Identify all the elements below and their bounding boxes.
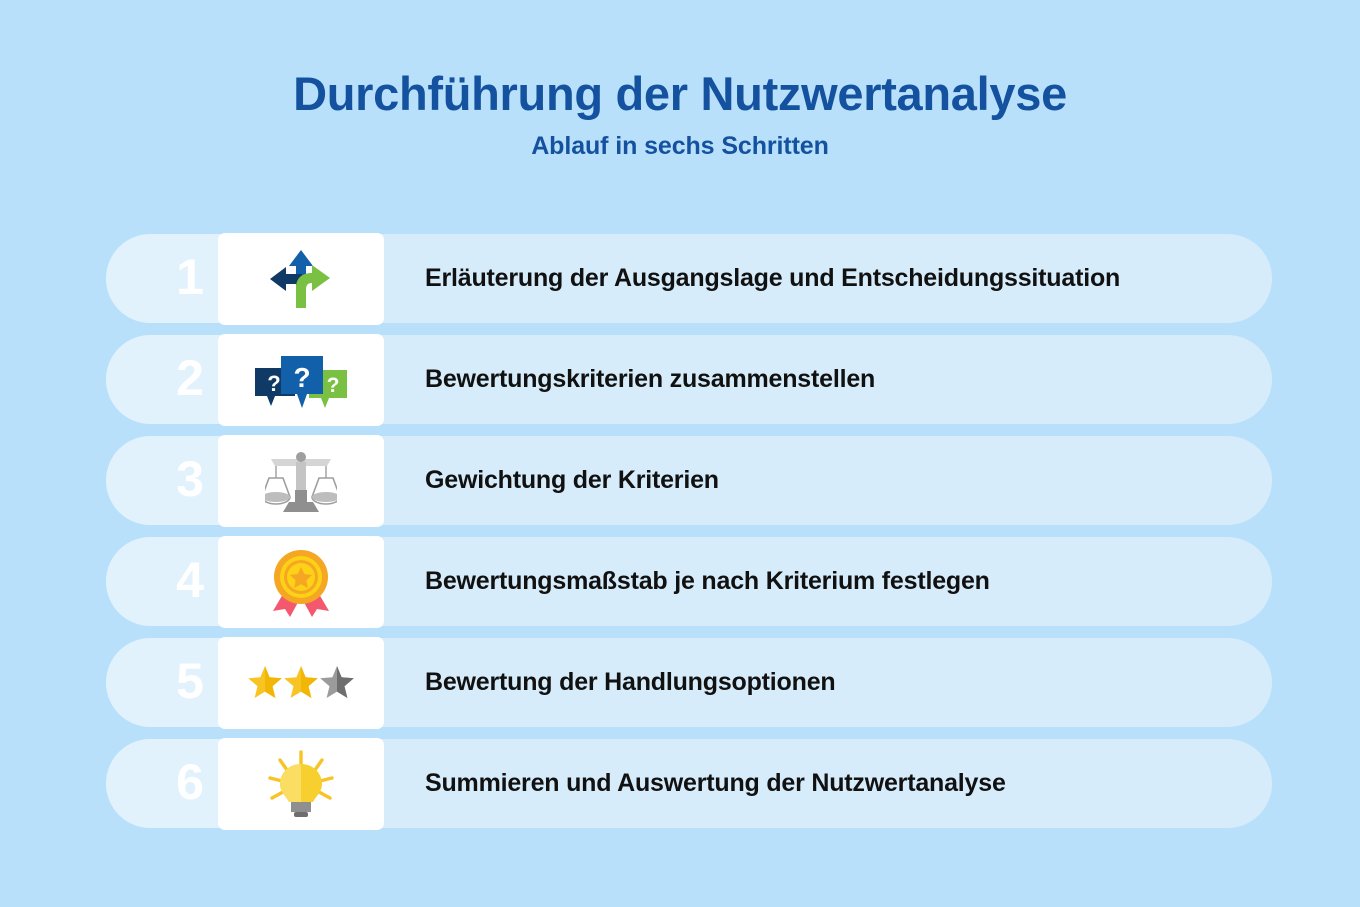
step-icon-tile bbox=[218, 738, 384, 830]
page-title: Durchführung der Nutzwertanalyse bbox=[0, 66, 1360, 121]
steps-list: 1 Erläuterung der Ausgangslage und Entsc… bbox=[106, 234, 1272, 828]
step-label: Gewichtung der Kriterien bbox=[425, 436, 1232, 525]
award-medal-icon bbox=[269, 547, 333, 617]
step-row[interactable]: 1 Erläuterung der Ausgangslage und Entsc… bbox=[106, 234, 1272, 323]
step-label: Bewertung der Handlungsoptionen bbox=[425, 638, 1232, 727]
step-icon-tile bbox=[218, 536, 384, 628]
step-row[interactable]: 6 bbox=[106, 739, 1272, 828]
svg-text:?: ? bbox=[327, 374, 340, 397]
step-row[interactable]: 5 Bewertun bbox=[106, 638, 1272, 727]
step-icon-tile: ? ? ? bbox=[218, 334, 384, 426]
header: Durchführung der Nutzwertanalyse Ablauf … bbox=[0, 0, 1360, 161]
three-stars-rating-icon bbox=[248, 665, 354, 701]
lightbulb-icon bbox=[264, 750, 338, 818]
step-row[interactable]: 3 bbox=[106, 436, 1272, 525]
svg-text:?: ? bbox=[293, 362, 310, 393]
question-speech-bubbles-icon: ? ? ? bbox=[253, 350, 349, 410]
page-subtitle: Ablauf in sechs Schritten bbox=[0, 132, 1360, 161]
three-way-arrows-icon bbox=[266, 248, 336, 310]
step-label: Bewertungsmaßstab je nach Kriterium fest… bbox=[425, 537, 1232, 626]
step-row[interactable]: 2 ? ? ? Bewertungskriterien zusammenstel… bbox=[106, 335, 1272, 424]
step-label: Erläuterung der Ausgangslage und Entsche… bbox=[425, 234, 1232, 323]
step-icon-tile bbox=[218, 637, 384, 729]
balance-scales-icon bbox=[265, 448, 337, 514]
step-icon-tile bbox=[218, 435, 384, 527]
step-label: Summieren und Auswertung der Nutzwertana… bbox=[425, 739, 1232, 828]
step-label: Bewertungskriterien zusammenstellen bbox=[425, 335, 1232, 424]
step-row[interactable]: 4 Bewertungsmaßstab je nach Kriterium fe… bbox=[106, 537, 1272, 626]
step-icon-tile bbox=[218, 233, 384, 325]
svg-text:?: ? bbox=[267, 371, 280, 396]
